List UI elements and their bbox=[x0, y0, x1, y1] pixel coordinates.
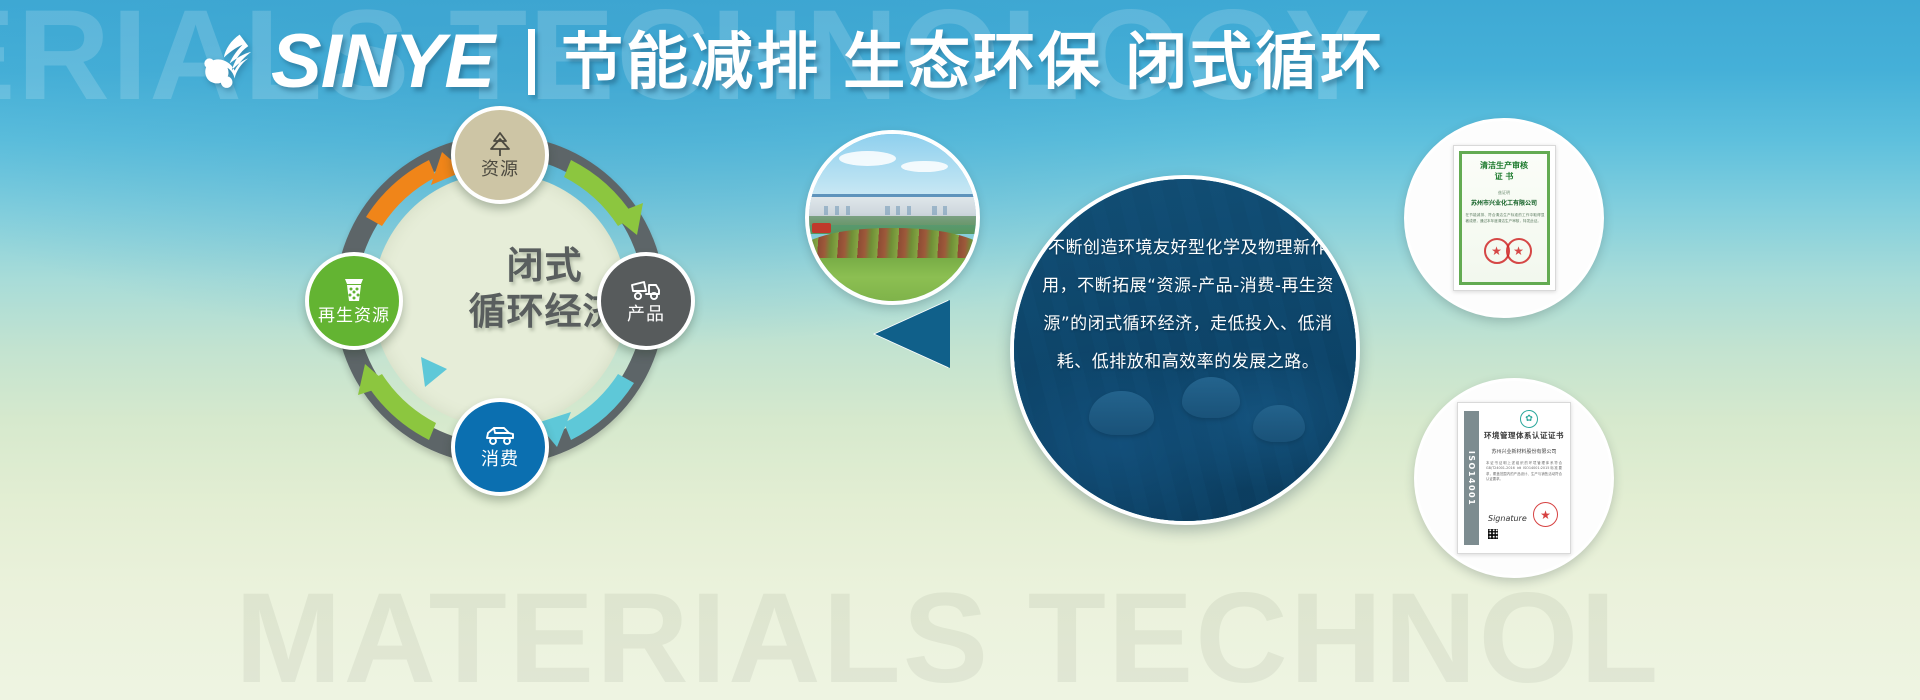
certificate-iso14001[interactable]: ISO14001 ✿ 环境管理体系认证证书 苏州兴业新材料股份有限公司 本证书证… bbox=[1414, 378, 1614, 578]
certificate-company: 苏州兴业新材料股份有限公司 bbox=[1484, 448, 1564, 455]
closed-loop-diagram: 闭式 循环经济 资源 bbox=[325, 125, 675, 475]
dump-truck-icon bbox=[629, 277, 663, 303]
bubble-text: 不断创造环境友好型化学及物理新作用，不断拓展“资源-产品-消费-再生资源”的闭式… bbox=[1040, 229, 1336, 381]
slogan-part-1: 节能减排 bbox=[561, 25, 821, 98]
recycle-bin-icon bbox=[339, 276, 369, 304]
cnas-mark-icon: ✿ bbox=[1520, 410, 1538, 428]
certificate-body: 本证书证明上述组织的环境管理体系符合GB/T24001-2016 idt ISO… bbox=[1486, 461, 1562, 483]
diagram-node-consume[interactable]: 消费 bbox=[451, 398, 549, 496]
certificate-title: 环境管理体系认证证书 bbox=[1484, 430, 1564, 441]
node-label-resource: 资源 bbox=[481, 160, 519, 180]
certificate-title: 清洁生产审核 证 书 bbox=[1454, 160, 1555, 182]
arrow-inner-teal bbox=[421, 357, 447, 387]
certificate-clean-production[interactable]: 清洁生产审核 证 书 兹证明 苏州市兴业化工有限公司 在节能减排、符合清洁生产标… bbox=[1404, 118, 1604, 318]
certificate-stamp: ★ bbox=[1533, 502, 1558, 527]
slogan: 节能减排生态环保闭式循环 bbox=[561, 29, 1385, 95]
arrow-resource-to-product bbox=[564, 160, 643, 235]
node-label-product: 产品 bbox=[627, 305, 665, 325]
statement-bubble: 不断创造环境友好型化学及物理新作用，不断拓展“资源-产品-消费-再生资源”的闭式… bbox=[1010, 175, 1360, 525]
node-label-consume: 消费 bbox=[481, 450, 519, 470]
certificate-paper: 清洁生产审核 证 书 兹证明 苏州市兴业化工有限公司 在节能减排、符合清洁生产标… bbox=[1453, 145, 1556, 291]
photo-vehicle bbox=[812, 223, 830, 233]
tree-icon bbox=[485, 130, 515, 158]
certificate-signature: Signature bbox=[1488, 514, 1527, 523]
certificate-body: 在节能减排、符合清洁生产标准的工作中取得显著成绩，通过本年度清洁生产审核，特发此… bbox=[1466, 212, 1545, 224]
bubble-tail bbox=[875, 300, 950, 368]
logo[interactable]: SINYE 节能减排生态环保闭式循环 bbox=[195, 24, 1385, 100]
diagram-node-product[interactable]: 产品 bbox=[597, 252, 695, 350]
certificate-standard-code: ISO14001 bbox=[1467, 450, 1476, 505]
certificate-company: 苏州市兴业化工有限公司 bbox=[1454, 198, 1555, 207]
watermark-bottom: MATERIALS TECHNOL bbox=[235, 565, 1660, 700]
slogan-part-2: 生态环保 bbox=[843, 25, 1103, 98]
splash-leaf-icon bbox=[195, 26, 267, 98]
photo-lawn bbox=[809, 258, 976, 301]
arrow-recycle-to-resource bbox=[366, 152, 464, 226]
slogan-part-3: 闭式循环 bbox=[1125, 25, 1385, 98]
node-label-recycle: 再生资源 bbox=[318, 306, 390, 326]
certificate-spine: ISO14001 bbox=[1464, 411, 1479, 545]
photo-cloud bbox=[839, 151, 896, 166]
certificate-paper: ISO14001 ✿ 环境管理体系认证证书 苏州兴业新材料股份有限公司 本证书证… bbox=[1457, 402, 1571, 554]
certificate-awardee-label: 兹证明 bbox=[1454, 190, 1555, 196]
certificate-stamp: ★ bbox=[1506, 238, 1532, 264]
factory-photo bbox=[805, 130, 980, 305]
diagram-node-recycle[interactable]: 再生资源 bbox=[305, 252, 403, 350]
diagram-node-resource[interactable]: 资源 bbox=[451, 106, 549, 204]
arrow-product-to-consume bbox=[537, 374, 634, 447]
logo-text: SINYE bbox=[271, 24, 494, 100]
certificate-title-line-2: 证 书 bbox=[1454, 171, 1555, 182]
certificate-title-line-1: 清洁生产审核 bbox=[1454, 160, 1555, 171]
car-icon bbox=[483, 424, 517, 448]
banner-root: ERIALS TECHNOLOGY MATERIALS TECHNOL SINY… bbox=[0, 0, 1920, 700]
header: SINYE 节能减排生态环保闭式循环 bbox=[0, 10, 1920, 110]
logo-divider bbox=[528, 29, 535, 95]
certificate-qr-code bbox=[1488, 529, 1498, 539]
